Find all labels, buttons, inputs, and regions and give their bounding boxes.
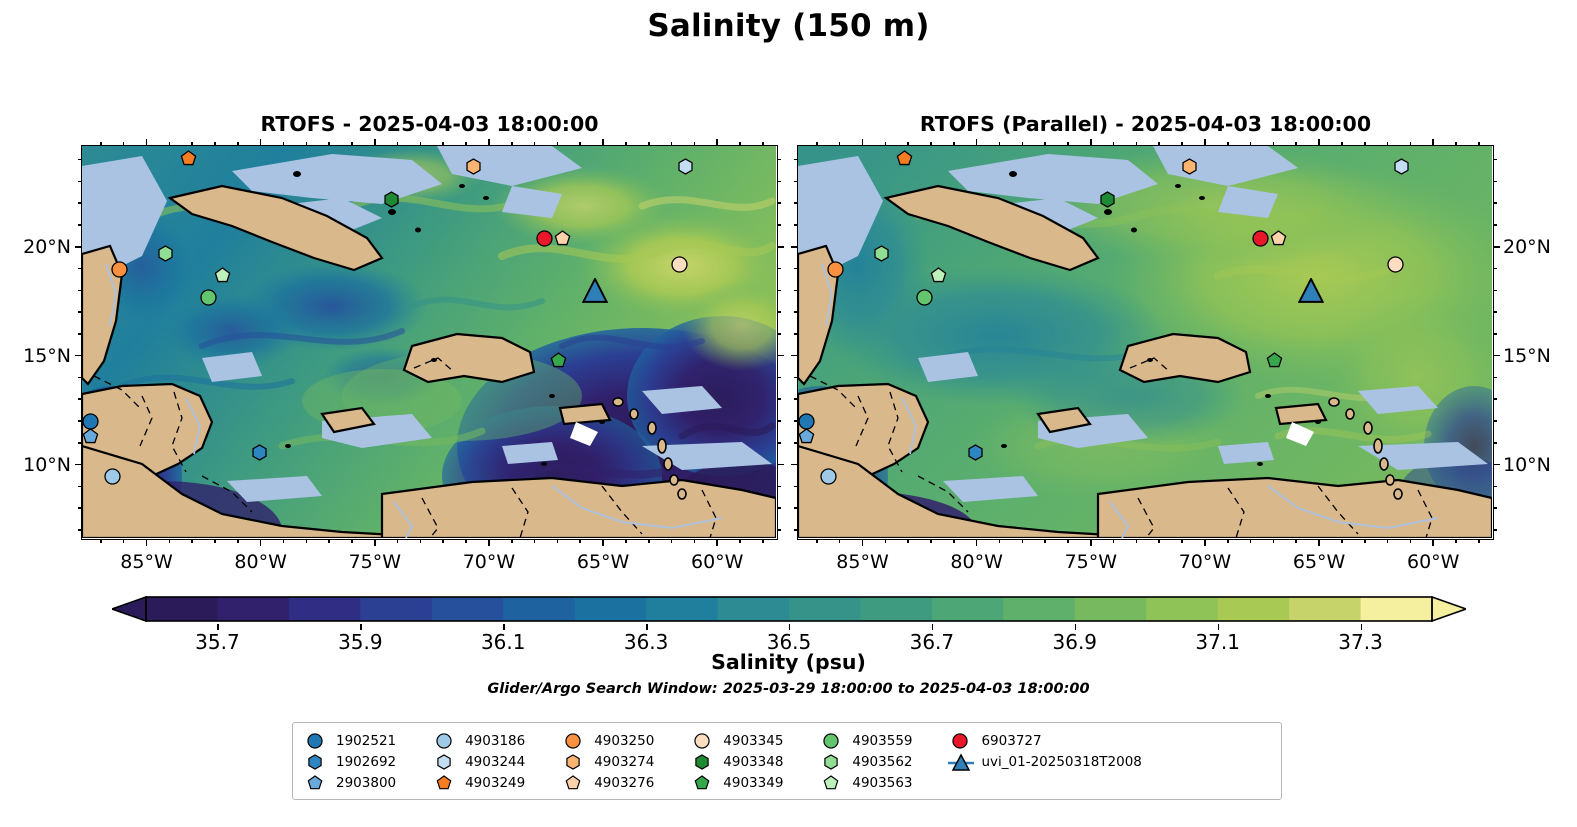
ytick-20°N	[1493, 246, 1500, 248]
ytick-minor	[777, 377, 781, 379]
xtick-minor	[999, 539, 1001, 543]
xtick-80°W	[260, 139, 262, 146]
ytick-minor	[777, 420, 781, 422]
map-marker-4903349[interactable]	[1266, 352, 1283, 369]
legend-label: 4903562	[852, 754, 912, 770]
ytick-15°N	[777, 355, 784, 357]
colorbar-swatches	[112, 596, 1466, 622]
xtick-minor	[1227, 539, 1229, 543]
ytick-minor	[794, 181, 798, 183]
xtick-minor	[739, 539, 741, 543]
legend-item-4903244[interactable]: 4903244	[432, 751, 561, 772]
legend-item-2903800[interactable]: 2903800	[303, 772, 432, 793]
xtick-label-75°W: 75°W	[349, 551, 401, 573]
ytick-minor	[78, 529, 82, 531]
ytick-minor	[1493, 202, 1497, 204]
legend-item-6903727[interactable]: 6903727	[948, 730, 1141, 751]
xtick-minor	[1295, 539, 1297, 543]
xtick-minor	[557, 142, 559, 146]
ytick-minor	[794, 398, 798, 400]
ytick-minor	[777, 398, 781, 400]
ytick-label-left-20°N: 20°N	[0, 236, 71, 258]
map-marker-4903562[interactable]	[157, 245, 174, 262]
ytick-minor	[78, 290, 82, 292]
ytick-minor	[78, 377, 82, 379]
xtick-75°W	[1090, 139, 1092, 146]
ytick-minor	[794, 311, 798, 313]
map-marker-4903244[interactable]	[1393, 158, 1410, 175]
map-marker-4903345[interactable]	[1387, 256, 1404, 273]
ytick-minor	[78, 507, 82, 509]
legend-label: 4903186	[465, 733, 525, 749]
colorbar-ticks: 35.735.936.136.336.536.736.937.137.3	[112, 624, 1466, 650]
xtick-minor	[930, 142, 932, 146]
xtick-85°W	[146, 539, 148, 546]
xtick-minor	[465, 142, 467, 146]
legend-label: 4903345	[723, 733, 783, 749]
xtick-minor	[1250, 142, 1252, 146]
xtick-minor	[1273, 142, 1275, 146]
xtick-minor	[1295, 142, 1297, 146]
ytick-20°N	[777, 246, 784, 248]
xtick-minor	[1044, 142, 1046, 146]
xtick-60°W	[716, 139, 718, 146]
xtick-65°W	[602, 539, 604, 546]
xtick-label-85°W: 85°W	[836, 551, 888, 573]
xtick-65°W	[1318, 539, 1320, 546]
xtick-minor	[442, 142, 444, 146]
colorbar-title: Salinity (psu)	[0, 650, 1577, 674]
colorbar-cell	[217, 597, 289, 621]
colorbar-cell	[860, 597, 932, 621]
xtick-label-70°W: 70°W	[1179, 551, 1231, 573]
ytick-label-left-10°N: 10°N	[0, 454, 71, 476]
legend-marker-hexagon-icon	[303, 752, 329, 772]
legend-label: 1902521	[336, 733, 396, 749]
ytick-10°N	[75, 464, 82, 466]
xtick-minor	[100, 539, 102, 543]
xtick-minor	[191, 142, 193, 146]
colorbar-cell	[146, 597, 218, 621]
xtick-minor	[579, 142, 581, 146]
xtick-minor	[237, 142, 239, 146]
xtick-minor	[306, 539, 308, 543]
colorbar-cell	[432, 597, 504, 621]
colorbar-cell	[646, 597, 718, 621]
legend-marker-pentagon-icon	[432, 773, 458, 793]
legend-item-4903276[interactable]: 4903276	[561, 772, 690, 793]
ytick-minor	[794, 529, 798, 531]
ytick-minor	[794, 420, 798, 422]
xtick-minor	[648, 539, 650, 543]
map-marker-4903562[interactable]	[873, 245, 890, 262]
xtick-minor	[907, 539, 909, 543]
legend-marker-glider-triangle-icon	[948, 752, 974, 772]
xtick-minor	[1387, 142, 1389, 146]
ytick-minor	[1493, 290, 1497, 292]
map-marker-4903559[interactable]	[200, 289, 217, 306]
ytick-minor	[78, 442, 82, 444]
xtick-minor	[816, 142, 818, 146]
xtick-minor	[1341, 539, 1343, 543]
legend-item-4903348[interactable]: 4903348	[690, 751, 819, 772]
xtick-75°W	[374, 139, 376, 146]
ytick-minor	[1493, 398, 1497, 400]
xtick-minor	[123, 539, 125, 543]
xtick-minor	[283, 142, 285, 146]
colorbar-cell	[789, 597, 861, 621]
xtick-label-80°W: 80°W	[234, 551, 286, 573]
ytick-minor	[1493, 311, 1497, 313]
legend-item-4903249[interactable]: 4903249	[432, 772, 561, 793]
xtick-minor	[762, 142, 764, 146]
colorbar-cell	[503, 597, 575, 621]
legend-label: 4903348	[723, 754, 783, 770]
xtick-label-60°W: 60°W	[1407, 551, 1459, 573]
xtick-80°W	[976, 539, 978, 546]
colorbar-cell	[1075, 597, 1147, 621]
ytick-minor	[794, 377, 798, 379]
ytick-minor	[78, 181, 82, 183]
ytick-minor	[78, 268, 82, 270]
xtick-85°W	[862, 139, 864, 146]
ytick-minor	[1493, 333, 1497, 335]
xtick-80°W	[976, 139, 978, 146]
map-marker-4903563[interactable]	[930, 267, 947, 284]
xtick-label-65°W: 65°W	[1293, 551, 1345, 573]
map-panel-rtofs: RTOFS - 2025-04-03 18:00:00	[81, 145, 778, 540]
legend: 1902521490318649032504903345490355969037…	[292, 722, 1282, 800]
map-marker-1902692[interactable]	[967, 444, 984, 461]
colorbar-cell	[289, 597, 361, 621]
xtick-minor	[1341, 142, 1343, 146]
map-marker-4903348[interactable]	[383, 191, 400, 208]
xtick-minor	[397, 539, 399, 543]
legend-marker-circle-icon	[432, 731, 458, 751]
legend-marker-hexagon-icon	[819, 752, 845, 772]
ytick-minor	[777, 529, 781, 531]
ytick-minor	[777, 486, 781, 488]
ytick-minor	[777, 442, 781, 444]
map-marker-4903244[interactable]	[677, 158, 694, 175]
ytick-minor	[794, 507, 798, 509]
ytick-label-right-10°N: 10°N	[1503, 454, 1551, 476]
ytick-20°N	[75, 246, 82, 248]
legend-label: 4903559	[852, 733, 912, 749]
xtick-minor	[671, 142, 673, 146]
xtick-minor	[625, 539, 627, 543]
xtick-minor	[694, 539, 696, 543]
xtick-minor	[442, 539, 444, 543]
map-marker-6903727[interactable]	[536, 230, 553, 247]
map-marker-4903274[interactable]	[1181, 158, 1198, 175]
ytick-minor	[794, 268, 798, 270]
map-marker-2903800[interactable]	[798, 428, 815, 445]
xtick-minor	[1478, 142, 1480, 146]
legend-label: 4903349	[723, 775, 783, 791]
legend-label: 4903276	[594, 775, 654, 791]
xtick-minor	[351, 142, 353, 146]
xtick-70°W	[1204, 539, 1206, 546]
ytick-minor	[78, 311, 82, 313]
ytick-minor	[777, 311, 781, 313]
legend-item-4903186[interactable]: 4903186	[432, 730, 561, 751]
legend-item-4903345[interactable]: 4903345	[690, 730, 819, 751]
map-marker-uvi_01-20250318T2008[interactable]	[582, 278, 608, 304]
xtick-minor	[1158, 539, 1160, 543]
colorbar-cell	[1361, 597, 1433, 621]
map-marker-4903345[interactable]	[671, 256, 688, 273]
xtick-60°W	[1432, 139, 1434, 146]
legend-marker-pentagon-icon	[690, 773, 716, 793]
xtick-85°W	[862, 539, 864, 546]
legend-marker-circle-icon	[303, 731, 329, 751]
xtick-minor	[1022, 142, 1024, 146]
map-marker-4903186[interactable]	[820, 468, 837, 485]
xtick-minor	[557, 539, 559, 543]
ytick-minor	[78, 333, 82, 335]
xtick-minor	[328, 539, 330, 543]
colorbar-cell	[1218, 597, 1290, 621]
xtick-minor	[397, 142, 399, 146]
xtick-70°W	[488, 539, 490, 546]
xtick-label-80°W: 80°W	[950, 551, 1002, 573]
xtick-minor	[1250, 539, 1252, 543]
xtick-80°W	[260, 539, 262, 546]
ytick-minor	[794, 159, 798, 161]
xtick-minor	[1067, 539, 1069, 543]
ytick-minor	[78, 159, 82, 161]
xtick-minor	[1158, 142, 1160, 146]
map-marker-4903276[interactable]	[1270, 230, 1287, 247]
xtick-minor	[191, 539, 193, 543]
legend-label: 4903563	[852, 775, 912, 791]
ytick-minor	[777, 333, 781, 335]
panel-title-rtofs: RTOFS - 2025-04-03 18:00:00	[81, 112, 778, 136]
xtick-minor	[953, 142, 955, 146]
salinity-field-rtofs-parallel	[798, 146, 1492, 538]
ytick-minor	[1493, 420, 1497, 422]
legend-item-1902521[interactable]: 1902521	[303, 730, 432, 751]
xtick-minor	[511, 539, 513, 543]
ytick-minor	[1493, 507, 1497, 509]
xtick-minor	[169, 142, 171, 146]
colorbar-cell	[575, 597, 647, 621]
ytick-minor	[78, 224, 82, 226]
legend-grid: 1902521490318649032504903345490355969037…	[303, 730, 1271, 793]
xtick-70°W	[1204, 139, 1206, 146]
legend-marker-hexagon-icon	[432, 752, 458, 772]
ytick-minor	[78, 486, 82, 488]
legend-item-uvi_01-20250318T2008[interactable]: uvi_01-20250318T2008	[948, 751, 1141, 772]
xtick-70°W	[488, 139, 490, 146]
colorbar-cell	[1146, 597, 1218, 621]
xtick-minor	[885, 539, 887, 543]
legend-marker-circle-icon	[948, 731, 974, 751]
xtick-minor	[1227, 142, 1229, 146]
map-marker-4903249[interactable]	[180, 150, 197, 167]
xtick-minor	[420, 142, 422, 146]
xtick-minor	[1273, 539, 1275, 543]
ytick-label-right-15°N: 15°N	[1503, 345, 1551, 367]
xtick-minor	[648, 142, 650, 146]
salinity-field-rtofs	[82, 146, 776, 538]
xtick-minor	[839, 539, 841, 543]
xtick-minor	[739, 142, 741, 146]
xtick-minor	[930, 539, 932, 543]
ytick-15°N	[791, 355, 798, 357]
legend-marker-pentagon-icon	[819, 773, 845, 793]
xtick-minor	[214, 539, 216, 543]
xtick-minor	[351, 539, 353, 543]
ytick-15°N	[75, 355, 82, 357]
legend-item-4903563[interactable]: 4903563	[819, 772, 948, 793]
xtick-minor	[1181, 539, 1183, 543]
ytick-minor	[78, 420, 82, 422]
xtick-minor	[1387, 539, 1389, 543]
map-marker-4903250[interactable]	[111, 261, 128, 278]
colorbar-cell	[932, 597, 1004, 621]
map-marker-2903800[interactable]	[82, 428, 99, 445]
xtick-minor	[1410, 142, 1412, 146]
xtick-minor	[694, 142, 696, 146]
ytick-minor	[794, 224, 798, 226]
ytick-minor	[777, 224, 781, 226]
legend-marker-circle-icon	[561, 731, 587, 751]
ytick-label-left-15°N: 15°N	[0, 345, 71, 367]
ytick-minor	[777, 268, 781, 270]
xtick-label-60°W: 60°W	[691, 551, 743, 573]
xtick-minor	[999, 142, 1001, 146]
legend-marker-pentagon-icon	[303, 773, 329, 793]
xtick-minor	[169, 539, 171, 543]
xtick-minor	[1364, 539, 1366, 543]
xtick-minor	[1113, 539, 1115, 543]
map-axes-rtofs[interactable]	[81, 145, 778, 540]
legend-label: 4903249	[465, 775, 525, 791]
ytick-minor	[794, 442, 798, 444]
legend-item-4903274[interactable]: 4903274	[561, 751, 690, 772]
legend-marker-circle-icon	[690, 731, 716, 751]
xtick-85°W	[146, 139, 148, 146]
xtick-minor	[816, 539, 818, 543]
ytick-minor	[1493, 442, 1497, 444]
legend-item-1902692[interactable]: 1902692	[303, 751, 432, 772]
ytick-10°N	[791, 464, 798, 466]
ytick-minor	[794, 333, 798, 335]
map-marker-4903274[interactable]	[465, 158, 482, 175]
legend-label: 4903250	[594, 733, 654, 749]
map-marker-4903186[interactable]	[104, 468, 121, 485]
ytick-minor	[1493, 181, 1497, 183]
xtick-minor	[1181, 142, 1183, 146]
xtick-minor	[123, 142, 125, 146]
map-marker-4903348[interactable]	[1099, 191, 1116, 208]
xtick-65°W	[602, 139, 604, 146]
xtick-label-70°W: 70°W	[463, 551, 515, 573]
ytick-minor	[78, 202, 82, 204]
xtick-minor	[306, 142, 308, 146]
map-marker-4903250[interactable]	[827, 261, 844, 278]
xtick-label-65°W: 65°W	[577, 551, 629, 573]
panel-title-rtofs-parallel: RTOFS (Parallel) - 2025-04-03 18:00:00	[797, 112, 1494, 136]
ytick-minor	[78, 398, 82, 400]
xtick-minor	[907, 142, 909, 146]
xtick-minor	[1364, 142, 1366, 146]
map-marker-6903727[interactable]	[1252, 230, 1269, 247]
xtick-minor	[1455, 539, 1457, 543]
ytick-10°N	[777, 464, 784, 466]
legend-marker-hexagon-icon	[690, 752, 716, 772]
search-window-caption: Glider/Argo Search Window: 2025-03-29 18…	[0, 681, 1577, 697]
xtick-minor	[465, 539, 467, 543]
ytick-minor	[794, 486, 798, 488]
xtick-minor	[1067, 142, 1069, 146]
xtick-minor	[762, 539, 764, 543]
ytick-minor	[777, 159, 781, 161]
legend-item-4903250[interactable]: 4903250	[561, 730, 690, 751]
map-marker-4903276[interactable]	[554, 230, 571, 247]
legend-item-4903349[interactable]: 4903349	[690, 772, 819, 793]
xtick-65°W	[1318, 139, 1320, 146]
legend-label: 4903274	[594, 754, 654, 770]
xtick-minor	[534, 539, 536, 543]
ytick-minor	[1493, 268, 1497, 270]
ytick-label-right-20°N: 20°N	[1503, 236, 1551, 258]
map-marker-4903563[interactable]	[214, 267, 231, 284]
xtick-minor	[100, 142, 102, 146]
xtick-75°W	[374, 539, 376, 546]
xtick-minor	[579, 539, 581, 543]
xtick-minor	[839, 142, 841, 146]
map-marker-1902692[interactable]	[251, 444, 268, 461]
legend-marker-pentagon-icon	[561, 773, 587, 793]
colorbar	[112, 596, 1466, 622]
legend-marker-hexagon-icon	[561, 752, 587, 772]
colorbar-cell	[1003, 597, 1075, 621]
ytick-minor	[1493, 486, 1497, 488]
xtick-minor	[511, 142, 513, 146]
colorbar-cell	[1289, 597, 1361, 621]
xtick-minor	[625, 142, 627, 146]
map-marker-4903249[interactable]	[896, 150, 913, 167]
map-marker-uvi_01-20250318T2008[interactable]	[1298, 278, 1324, 304]
xtick-minor	[237, 539, 239, 543]
xtick-minor	[328, 142, 330, 146]
legend-label: 1902692	[336, 754, 396, 770]
xtick-minor	[1113, 142, 1115, 146]
legend-label: 6903727	[981, 733, 1041, 749]
ytick-minor	[794, 202, 798, 204]
legend-item-4903559[interactable]: 4903559	[819, 730, 948, 751]
ytick-minor	[1493, 159, 1497, 161]
map-axes-rtofs-parallel[interactable]	[797, 145, 1494, 540]
colorbar-cell	[718, 597, 790, 621]
legend-label: 2903800	[336, 775, 396, 791]
xtick-minor	[1478, 539, 1480, 543]
ytick-minor	[1493, 529, 1497, 531]
xtick-minor	[214, 142, 216, 146]
xtick-minor	[420, 539, 422, 543]
ytick-minor	[794, 290, 798, 292]
legend-item-4903562[interactable]: 4903562	[819, 751, 948, 772]
map-marker-4903559[interactable]	[916, 289, 933, 306]
xtick-label-75°W: 75°W	[1065, 551, 1117, 573]
legend-marker-circle-icon	[819, 731, 845, 751]
map-marker-4903349[interactable]	[550, 352, 567, 369]
xtick-75°W	[1090, 539, 1092, 546]
legend-label: uvi_01-20250318T2008	[981, 754, 1141, 770]
